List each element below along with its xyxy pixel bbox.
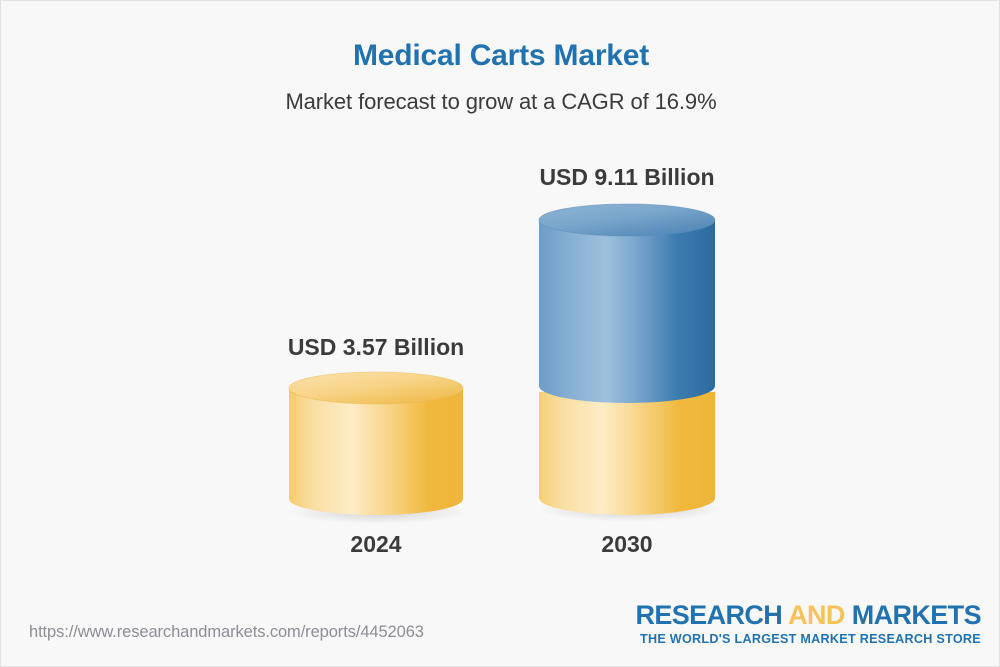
page-title: Medical Carts Market <box>1 39 1000 73</box>
logo-word-research: RESEARCH <box>635 600 788 630</box>
logo-wordmark: RESEARCH AND MARKETS <box>635 602 981 630</box>
cylinder-gold-body <box>289 388 463 515</box>
logo-word-and: AND <box>788 600 852 630</box>
cylinder-blue-body <box>539 220 715 403</box>
data-label-2030: USD 9.11 Billion <box>537 164 717 191</box>
data-label-2024: USD 3.57 Billion <box>286 334 466 361</box>
research-and-markets-logo[interactable]: RESEARCH AND MARKETS THE WORLD'S LARGEST… <box>635 602 981 646</box>
chart-subtitle: Market forecast to grow at a CAGR of 16.… <box>1 89 1000 115</box>
chart-image: Medical Carts Market Market forecast to … <box>0 0 1000 667</box>
report-url[interactable]: https://www.researchandmarkets.com/repor… <box>29 623 424 642</box>
bar-cylinder-2030 <box>539 204 715 524</box>
logo-word-markets: MARKETS <box>852 600 981 630</box>
logo-tagline: THE WORLD'S LARGEST MARKET RESEARCH STOR… <box>635 632 981 646</box>
bar-cylinder-2024 <box>289 372 463 524</box>
category-label-2030: 2030 <box>537 531 717 558</box>
cylinder-gold-body <box>539 392 715 515</box>
category-label-2024: 2024 <box>286 531 466 558</box>
